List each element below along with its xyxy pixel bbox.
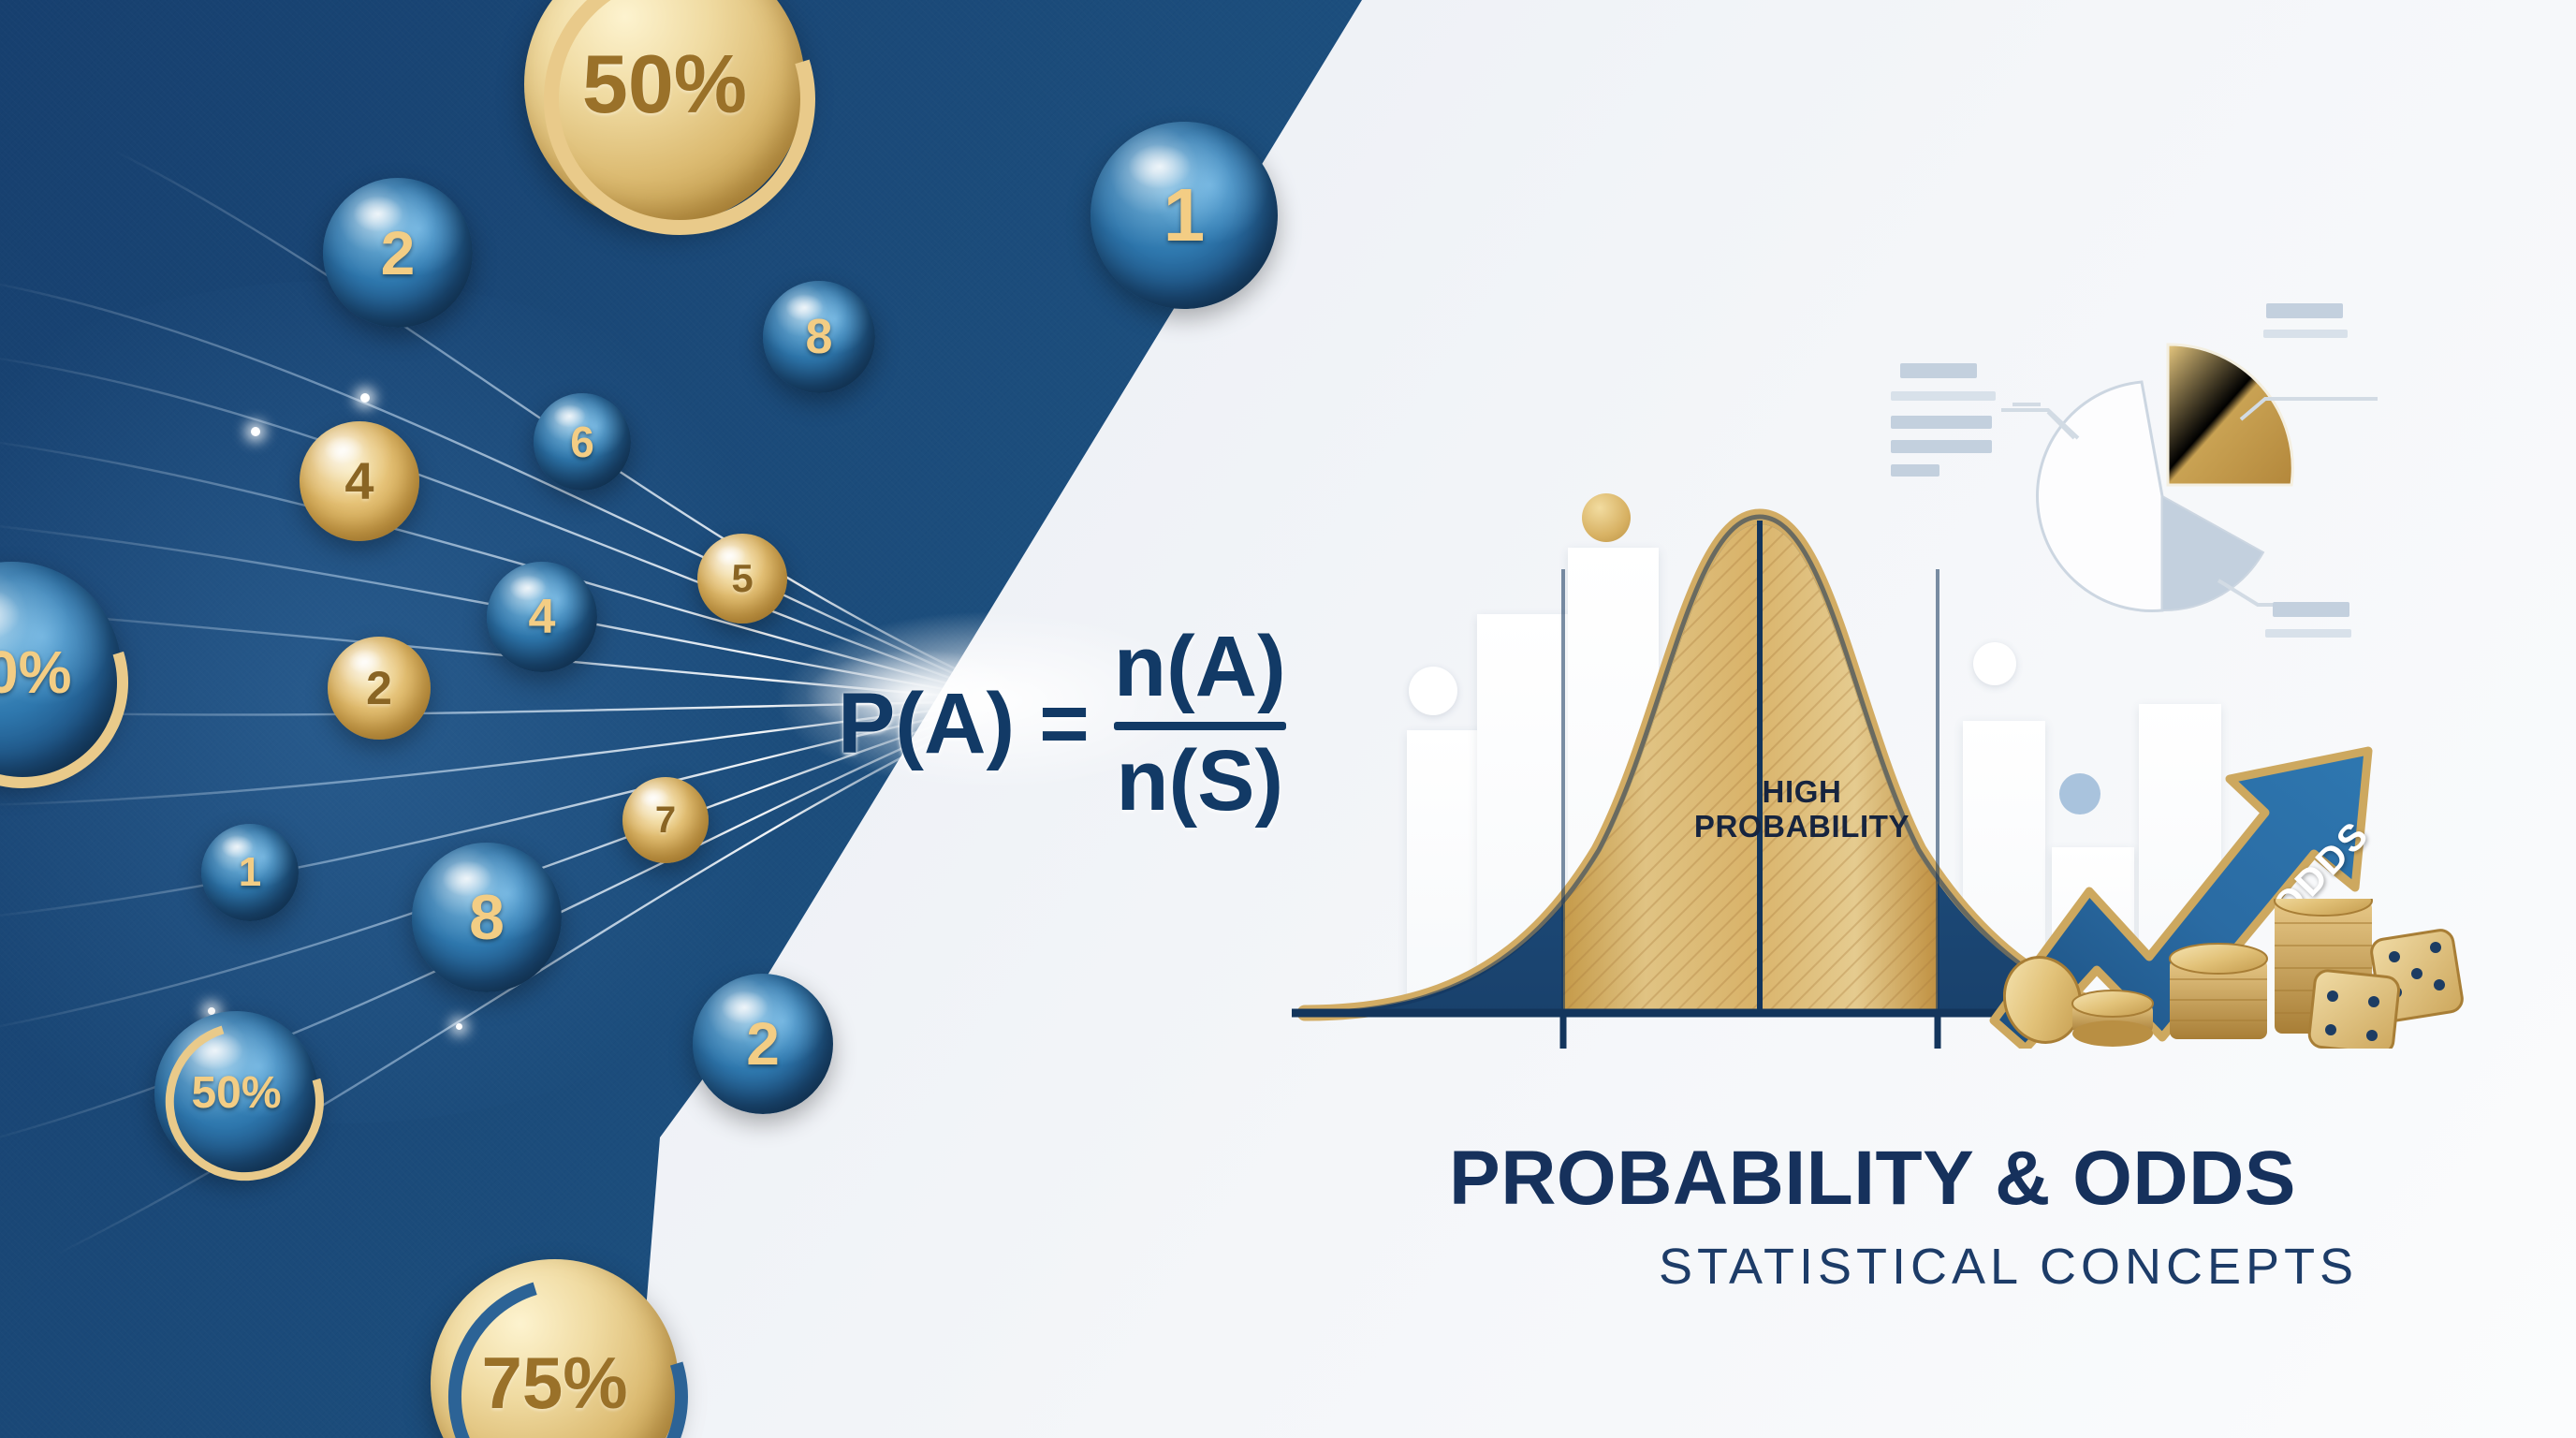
ball-highlight xyxy=(0,588,21,640)
ball-8-big: 8 xyxy=(412,843,562,992)
ball-5: 5 xyxy=(697,534,787,624)
die-front xyxy=(2308,970,2400,1049)
ball-6-label: 6 xyxy=(570,420,594,463)
high-probability-line1: HIGH xyxy=(1647,775,1956,810)
ball-50pct-low: 50% xyxy=(154,1011,318,1175)
ball-1-small-label: 1 xyxy=(239,852,261,893)
ball-4-gold-label: 4 xyxy=(344,455,373,507)
ball-2-gold: 2 xyxy=(328,637,431,740)
ball-2-a-label: 2 xyxy=(381,222,416,284)
pie-label-bar xyxy=(1900,363,1977,378)
sparkle-icon xyxy=(251,427,260,436)
coin-stack-medium xyxy=(2170,944,2267,1039)
ball-7-label: 7 xyxy=(655,801,676,839)
sparkle-icon xyxy=(360,393,370,403)
pie-label-bar xyxy=(1891,416,1992,429)
ball-50pct-low-label: 50% xyxy=(191,1071,281,1116)
formula-fraction: n(A) n(S) xyxy=(1114,618,1286,830)
page-title: PROBABILITY & ODDS xyxy=(1449,1135,2296,1223)
formula-denominator: n(S) xyxy=(1114,732,1286,830)
ball-4-blue-label: 4 xyxy=(529,593,556,641)
pie-slice-gold xyxy=(2168,345,2292,485)
pie-label-bar xyxy=(2265,629,2351,638)
ball-2-right: 2 xyxy=(693,974,833,1114)
high-probability-line2: PROBABILITY xyxy=(1647,810,1956,844)
coin-and-dice-group xyxy=(2003,899,2490,1049)
formula-numerator: n(A) xyxy=(1114,618,1286,716)
pie-label-bar xyxy=(2266,303,2343,318)
coin-stack-small xyxy=(2072,990,2153,1047)
formula-equals: = xyxy=(1039,675,1090,773)
pie-label-bar xyxy=(2263,330,2348,338)
ball-2-gold-label: 2 xyxy=(366,665,392,712)
ball-8-a: 8 xyxy=(763,281,875,393)
ball-8-big-label: 8 xyxy=(469,886,505,949)
ball-5-label: 5 xyxy=(731,559,753,598)
ball-50pct-top-label: 50% xyxy=(582,37,747,132)
pie-label-bar xyxy=(1891,391,1996,401)
ball-1-small: 1 xyxy=(201,824,299,921)
ball-highlight xyxy=(187,1031,243,1070)
ball-4-blue: 4 xyxy=(487,562,597,672)
high-probability-label: HIGH PROBABILITY xyxy=(1647,775,1956,844)
coin-75pct-label: 75% xyxy=(481,1341,627,1426)
pie-slice-blue xyxy=(2162,496,2263,610)
ball-2-a: 2 xyxy=(323,178,473,328)
page-subtitle: STATISTICAL CONCEPTS xyxy=(1659,1238,2358,1296)
ball-50pct-left-label: 50% xyxy=(0,642,72,702)
ball-4-gold: 4 xyxy=(300,421,419,541)
sparkle-icon xyxy=(456,1023,462,1030)
ball-7: 7 xyxy=(622,777,709,863)
ball-1-top-label: 1 xyxy=(1164,178,1206,253)
probability-formula: P(A) = n(A) n(S) xyxy=(838,618,1286,830)
pie-label-bar xyxy=(2273,602,2349,617)
ball-1-top: 1 xyxy=(1090,122,1278,309)
ball-8-a-label: 8 xyxy=(806,313,833,361)
ball-6: 6 xyxy=(534,393,631,491)
ball-2-right-label: 2 xyxy=(746,1014,780,1074)
fraction-bar xyxy=(1114,722,1286,730)
formula-lhs: P(A) xyxy=(838,675,1015,773)
infographic-canvas: 50%218465450%2718250%75% P(A) = n(A) n(S… xyxy=(0,0,2576,1438)
